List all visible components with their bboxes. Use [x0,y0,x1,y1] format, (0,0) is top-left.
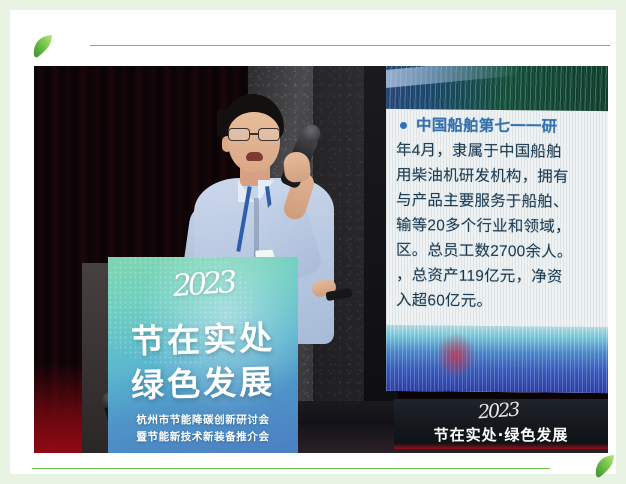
slide-line-4: 输等20多个行业和领域， [396,213,608,240]
photo-conference-speaker: 中国船舶第七一一研 年4月，隶属于中国船舶 用柴油机研发机构，拥有 与产品主要服… [34,66,608,453]
leaf-icon [594,453,616,479]
podium-side-panel [82,263,108,453]
page-background: 中国船舶第七一一研 年4月，隶属于中国船舶 用柴油机研发机构，拥有 与产品主要服… [0,0,626,484]
content-card: 中国船舶第七一一研 年4月，隶属于中国船舶 用柴油机研发机构，拥有 与产品主要服… [10,10,616,474]
stage-banner: 2023 节在实处·绿色发展 [394,399,608,449]
podium: 2023 节在实处 绿色发展 杭州市节能降碳创新研讨会 暨节能新技术新装备推介会 [82,257,298,453]
speaker-mouth [246,152,263,161]
stage-banner-text: 节在实处·绿色发展 [394,424,608,445]
slide-line-1: 年4月，隶属于中国船舶 [396,138,608,165]
divider-top [90,45,610,46]
slide-top-image [386,66,608,111]
speaker-face [228,112,280,172]
slide-line-2: 用柴油机研发机构，拥有 [396,163,608,190]
stage-banner-year: 2023 [477,399,519,423]
slide-line-7: 入超60亿元。 [396,288,608,315]
slide-line-3: 与产品主要服务于船舶、 [396,188,608,215]
leaf-icon [32,33,54,59]
divider-bottom [32,468,550,469]
slide-line-6: ，总资产119亿元，净资 [396,263,608,290]
bullet-dot-icon [400,122,407,129]
podium-subtitle-line2: 暨节能新技术新装备推介会 [108,429,298,444]
podium-year: 2023 [108,260,298,308]
podium-headline-line2: 绿色发展 [108,355,298,408]
slide-line-5: 区。总员工数2700余人。 [396,238,608,265]
glasses-lens-left [228,128,250,141]
slide-bottom-image [386,325,608,393]
podium-banner-panel: 2023 节在实处 绿色发展 杭州市节能降碳创新研讨会 暨节能新技术新装备推介会 [108,257,298,453]
glasses-bridge [250,133,258,135]
slide-text-body: 中国船舶第七一一研 年4月，隶属于中国船舶 用柴油机研发机构，拥有 与产品主要服… [396,113,608,315]
slide-line-0: 中国船舶第七一一研 [416,117,557,135]
slide-bullet-line: 中国船舶第七一一研 [396,113,608,140]
projection-screen: 中国船舶第七一一研 年4月，隶属于中国船舶 用柴油机研发机构，拥有 与产品主要服… [386,66,608,393]
podium-subtitle-line1: 杭州市节能降碳创新研讨会 [108,412,298,427]
glasses-lens-right [258,128,280,141]
glasses-icon [226,128,284,141]
